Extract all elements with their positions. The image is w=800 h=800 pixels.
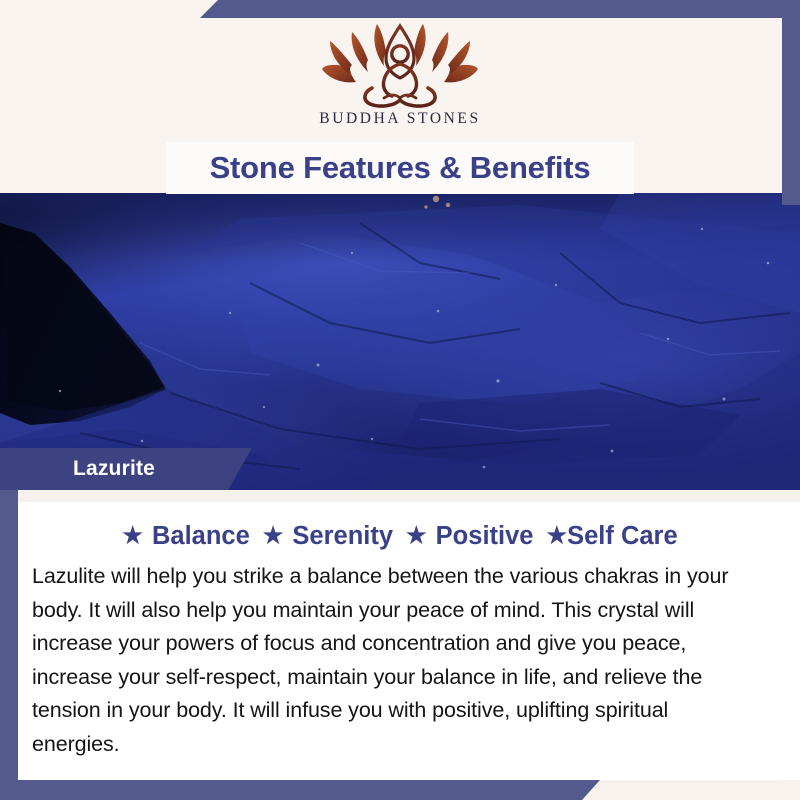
star-icon: ★ [122, 522, 143, 549]
keyword-label: Positive [436, 522, 534, 550]
stone-photo [0, 193, 800, 490]
stone-photo-illustration [0, 193, 800, 490]
keyword-item-0: ★Balance [122, 522, 249, 550]
stone-name-label: Lazurite [0, 448, 228, 490]
star-icon: ★ [406, 522, 427, 549]
star-icon: ★ [263, 522, 284, 549]
content-region: ★Balance★Serenity★Positive★Self Care Laz… [0, 502, 800, 780]
page-title: Stone Features & Benefits [0, 143, 800, 193]
keyword-item-3: ★Self Care [546, 522, 677, 550]
lotus-meditation-icon [312, 22, 488, 108]
frame-accent-bottom [0, 780, 800, 800]
content-divider-strip [0, 490, 800, 502]
star-icon: ★ [546, 522, 567, 549]
stone-description: Lazulite will help you strike a balance … [32, 560, 754, 761]
brand-name: BUDDHA STONES [0, 110, 800, 128]
frame-accent-left [0, 490, 18, 800]
brand-logo: BUDDHA STONES [0, 22, 800, 128]
frame-accent-right [782, 0, 800, 205]
keyword-label: Serenity [292, 522, 393, 550]
poster-card: BUDDHA STONES Stone Features & Benefits [0, 0, 800, 800]
keyword-item-1: ★Serenity [263, 522, 393, 550]
keyword-label: Self Care [567, 522, 678, 550]
keyword-list: ★Balance★Serenity★Positive★Self Care [0, 522, 800, 551]
keyword-label: Balance [152, 522, 250, 550]
keyword-item-2: ★Positive [406, 522, 533, 550]
